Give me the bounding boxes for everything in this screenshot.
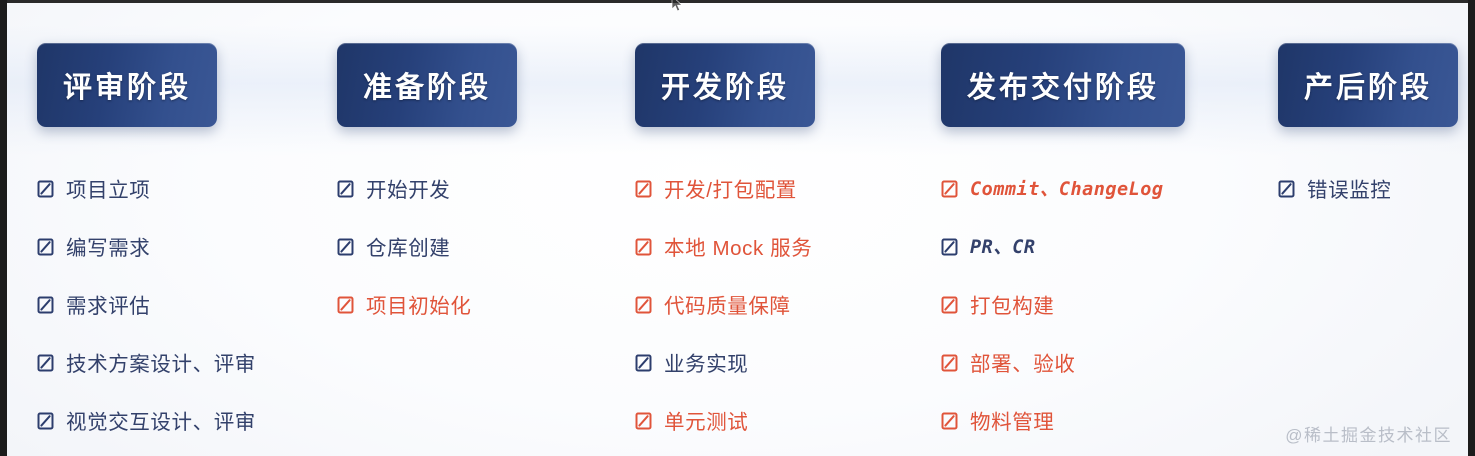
task-item[interactable]: 技术方案设计、评审 bbox=[37, 333, 256, 391]
task-item-label: 物料管理 bbox=[970, 405, 1054, 435]
task-item[interactable]: 部署、验收 bbox=[941, 333, 1185, 391]
task-item[interactable]: 错误监控 bbox=[1278, 159, 1458, 217]
task-item[interactable]: 编写需求 bbox=[37, 217, 256, 275]
task-item[interactable]: 项目初始化 bbox=[337, 275, 517, 333]
checkbox-checked-icon bbox=[635, 354, 652, 372]
stage-badge[interactable]: 评审阶段 bbox=[37, 43, 217, 127]
task-item[interactable]: PR、CR bbox=[941, 217, 1185, 275]
task-item[interactable]: 视觉交互设计、评审 bbox=[37, 391, 256, 449]
task-list: 错误监控 bbox=[1278, 159, 1458, 217]
task-list: 开发/打包配置本地 Mock 服务代码质量保障业务实现单元测试 bbox=[635, 159, 815, 449]
checkbox-checked-icon bbox=[635, 180, 652, 198]
checkbox-checked-icon bbox=[635, 412, 652, 430]
task-item-label: 打包构建 bbox=[970, 289, 1054, 319]
task-item-label: 需求评估 bbox=[66, 289, 150, 319]
task-item-label: Commit、ChangeLog bbox=[970, 175, 1164, 201]
task-item-label: 开发/打包配置 bbox=[664, 173, 797, 203]
task-item[interactable]: 本地 Mock 服务 bbox=[635, 217, 815, 275]
task-item-label: 业务实现 bbox=[664, 347, 748, 377]
stage-badge-label: 评审阶段 bbox=[63, 64, 191, 106]
task-item-label: 项目立项 bbox=[66, 173, 150, 203]
task-list: 开始开发仓库创建项目初始化 bbox=[337, 159, 517, 333]
stage-column: 产后阶段错误监控 bbox=[1278, 43, 1458, 233]
checkbox-checked-icon bbox=[337, 296, 354, 314]
task-item[interactable]: 仓库创建 bbox=[337, 217, 517, 275]
task-item-label: 部署、验收 bbox=[970, 347, 1076, 377]
checkbox-checked-icon bbox=[941, 238, 958, 256]
stage-columns: 评审阶段项目立项编写需求需求评估技术方案设计、评审视觉交互设计、评审准备阶段开始… bbox=[7, 3, 1468, 456]
task-item-label: 单元测试 bbox=[664, 405, 748, 435]
task-item[interactable]: 项目立项 bbox=[37, 159, 256, 217]
stage-badge-label: 产后阶段 bbox=[1304, 64, 1432, 106]
task-item[interactable]: 业务实现 bbox=[635, 333, 815, 391]
task-item[interactable]: 打包构建 bbox=[941, 275, 1185, 333]
checkbox-checked-icon bbox=[1278, 180, 1295, 198]
mouse-cursor-icon bbox=[671, 0, 685, 12]
task-item-label: 仓库创建 bbox=[366, 231, 450, 261]
stage-badge[interactable]: 发布交付阶段 bbox=[941, 43, 1185, 127]
stage-badge[interactable]: 准备阶段 bbox=[337, 43, 517, 127]
stage-column: 开发阶段开发/打包配置本地 Mock 服务代码质量保障业务实现单元测试 bbox=[635, 43, 815, 456]
task-item-label: 视觉交互设计、评审 bbox=[66, 405, 256, 435]
checkbox-checked-icon bbox=[37, 354, 54, 372]
checkbox-checked-icon bbox=[941, 412, 958, 430]
task-item[interactable]: 单元测试 bbox=[635, 391, 815, 449]
checkbox-checked-icon bbox=[37, 238, 54, 256]
task-item[interactable]: 物料管理 bbox=[941, 391, 1185, 449]
stage-badge-label: 开发阶段 bbox=[661, 64, 789, 106]
stage-column: 发布交付阶段Commit、ChangeLogPR、CR打包构建部署、验收物料管理 bbox=[941, 43, 1185, 456]
task-item[interactable]: 开发/打包配置 bbox=[635, 159, 815, 217]
task-item-label: 错误监控 bbox=[1307, 173, 1391, 203]
task-item[interactable]: Commit、ChangeLog bbox=[941, 159, 1185, 217]
task-list: 项目立项编写需求需求评估技术方案设计、评审视觉交互设计、评审 bbox=[37, 159, 256, 449]
task-item-label: PR、CR bbox=[970, 233, 1036, 259]
stage-badge[interactable]: 产后阶段 bbox=[1278, 43, 1458, 127]
stage-column: 准备阶段开始开发仓库创建项目初始化 bbox=[337, 43, 517, 349]
task-item-label: 技术方案设计、评审 bbox=[66, 347, 256, 377]
task-item-label: 编写需求 bbox=[66, 231, 150, 261]
task-list: Commit、ChangeLogPR、CR打包构建部署、验收物料管理 bbox=[941, 159, 1185, 449]
task-item-label: 项目初始化 bbox=[366, 289, 472, 319]
stage-column: 评审阶段项目立项编写需求需求评估技术方案设计、评审视觉交互设计、评审 bbox=[37, 43, 256, 456]
checkbox-checked-icon bbox=[337, 180, 354, 198]
checkbox-checked-icon bbox=[635, 238, 652, 256]
top-border-rule bbox=[7, 0, 1468, 3]
slide-body: 评审阶段项目立项编写需求需求评估技术方案设计、评审视觉交互设计、评审准备阶段开始… bbox=[7, 3, 1468, 456]
stage-badge-label: 发布交付阶段 bbox=[967, 64, 1159, 106]
task-item-label: 本地 Mock 服务 bbox=[664, 231, 812, 261]
stage-badge[interactable]: 开发阶段 bbox=[635, 43, 815, 127]
checkbox-checked-icon bbox=[37, 412, 54, 430]
task-item-label: 开始开发 bbox=[366, 173, 450, 203]
checkbox-checked-icon bbox=[941, 296, 958, 314]
task-item[interactable]: 开始开发 bbox=[337, 159, 517, 217]
screenshot-canvas: 评审阶段项目立项编写需求需求评估技术方案设计、评审视觉交互设计、评审准备阶段开始… bbox=[0, 0, 1475, 456]
stage-badge-label: 准备阶段 bbox=[363, 64, 491, 106]
watermark: @稀土掘金技术社区 bbox=[1285, 421, 1452, 446]
checkbox-checked-icon bbox=[37, 180, 54, 198]
task-item[interactable]: 代码质量保障 bbox=[635, 275, 815, 333]
checkbox-checked-icon bbox=[941, 354, 958, 372]
checkbox-checked-icon bbox=[337, 238, 354, 256]
task-item[interactable]: 需求评估 bbox=[37, 275, 256, 333]
checkbox-checked-icon bbox=[941, 180, 958, 198]
checkbox-checked-icon bbox=[37, 296, 54, 314]
task-item-label: 代码质量保障 bbox=[664, 289, 791, 319]
checkbox-checked-icon bbox=[635, 296, 652, 314]
